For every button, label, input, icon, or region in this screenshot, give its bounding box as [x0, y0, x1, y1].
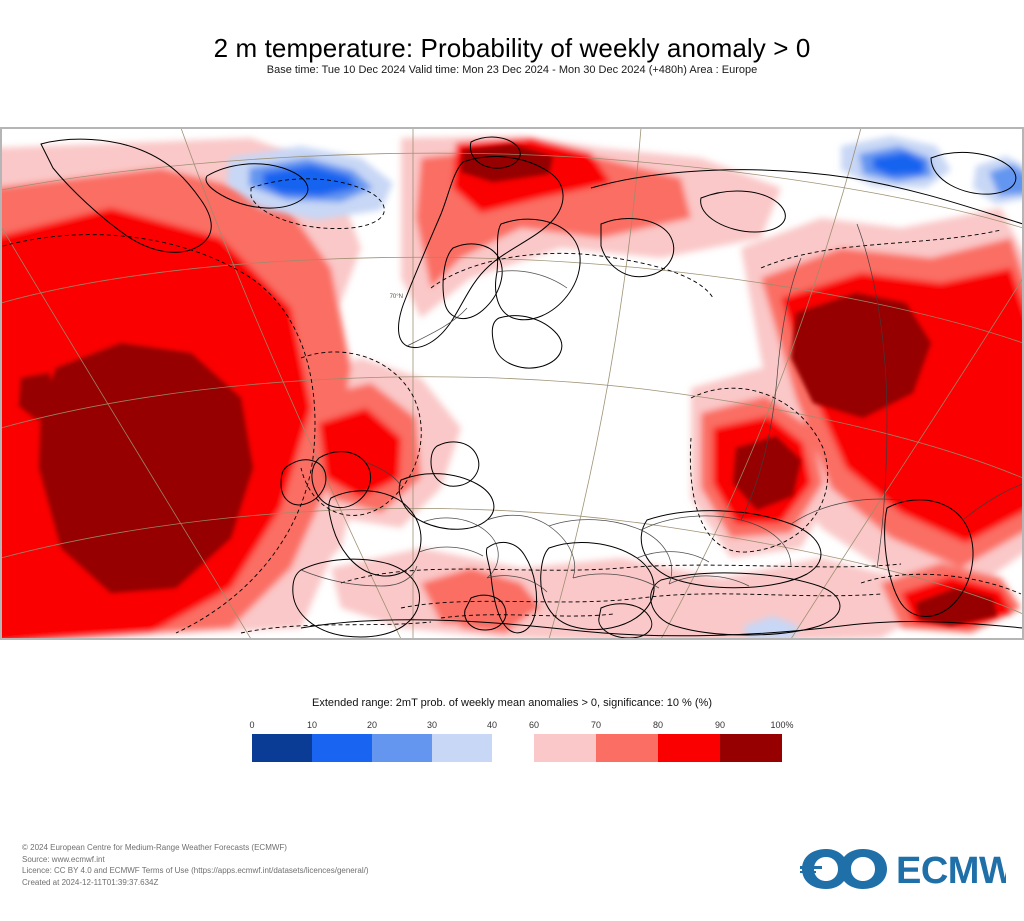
- tick-label: 20: [367, 720, 377, 730]
- colorbar-blue-ticks: 0 10 20 30 40: [252, 720, 492, 734]
- colorbar-red-ticks: 60 70 80 90 100%: [534, 720, 782, 734]
- map-panel[interactable]: 70°N: [0, 127, 1024, 640]
- colorbar-red-swatches: [534, 734, 782, 762]
- swatch-red-0: [534, 734, 596, 762]
- swatch-blue-1: [312, 734, 372, 762]
- tick-label: 30: [427, 720, 437, 730]
- colorbar-legend: Extended range: 2mT prob. of weekly mean…: [0, 697, 1024, 764]
- tick-label: 60: [529, 720, 539, 730]
- ecmwf-forecast-page: 2 m temperature: Probability of weekly a…: [0, 0, 1024, 921]
- colorbar-blue[interactable]: 0 10 20 30 40: [252, 734, 492, 762]
- footer-attribution: © 2024 European Centre for Medium-Range …: [22, 842, 369, 888]
- tick-label: 70: [591, 720, 601, 730]
- ecmwf-logo-mark: [800, 849, 887, 889]
- tick-label: 40: [487, 720, 497, 730]
- tick-label: 80: [653, 720, 663, 730]
- colorbar-blue-swatches: [252, 734, 492, 762]
- page-title: 2 m temperature: Probability of weekly a…: [0, 33, 1024, 64]
- swatch-red-2: [658, 734, 720, 762]
- ecmwf-logo-text: ECMWF: [896, 850, 1006, 892]
- swatch-blue-2: [372, 734, 432, 762]
- tick-label: 0: [249, 720, 254, 730]
- swatch-red-1: [596, 734, 658, 762]
- colorbar-red[interactable]: 60 70 80 90 100%: [534, 734, 782, 762]
- colorbar-bars: 0 10 20 30 40 60 70 80 90: [0, 718, 1024, 764]
- swatch-blue-0: [252, 734, 312, 762]
- footer-line-licence: Licence: CC BY 4.0 and ECMWF Terms of Us…: [22, 865, 369, 877]
- forecast-metadata-subtitle: Base time: Tue 10 Dec 2024 Valid time: M…: [0, 64, 1024, 76]
- ecmwf-logo[interactable]: ECMWF: [800, 843, 1006, 895]
- footer-line-source: Source: www.ecmwf.int: [22, 854, 369, 866]
- tick-label: 90: [715, 720, 725, 730]
- footer-line-copyright: © 2024 European Centre for Medium-Range …: [22, 842, 369, 854]
- tick-label: 100%: [770, 720, 793, 730]
- tick-label: 10: [307, 720, 317, 730]
- probability-map[interactable]: 70°N: [1, 128, 1023, 639]
- graticule-label-70n: 70°N: [390, 294, 403, 300]
- swatch-blue-3: [432, 734, 492, 762]
- colorbar-caption: Extended range: 2mT prob. of weekly mean…: [0, 697, 1024, 709]
- swatch-red-3: [720, 734, 782, 762]
- footer-line-created: Created at 2024-12-11T01:39:37.634Z: [22, 877, 369, 889]
